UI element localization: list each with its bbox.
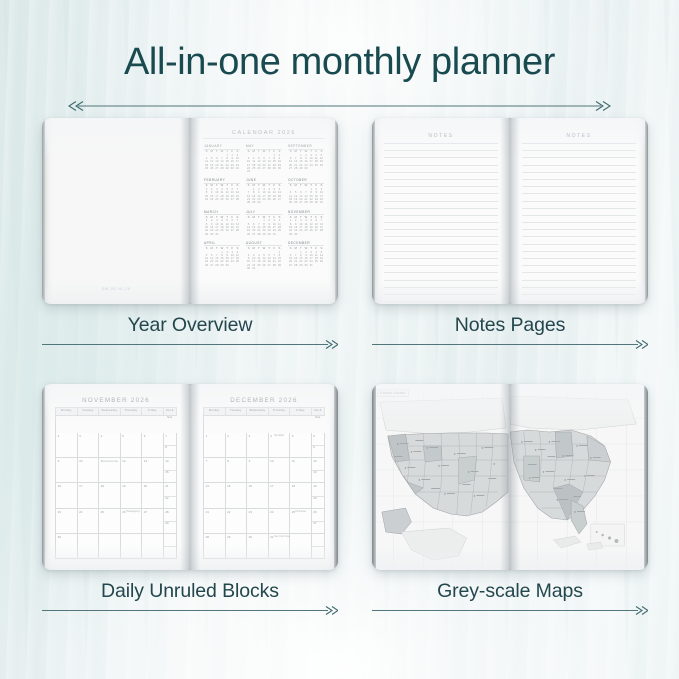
day-holiday-note: Thanksgiving [126, 510, 140, 513]
day-number: 12 [313, 459, 316, 463]
panel-year-overview: DW-192-HL-26 CALENDAR 2026 JANUARYSMTWTF… [42, 118, 338, 355]
mini-day-cell: 28 [235, 198, 240, 201]
spine-edge-right [335, 118, 338, 304]
notes-rule-line [384, 245, 498, 252]
month-day-cell[interactable]: 19 [121, 483, 143, 508]
notes-rule-line [522, 273, 636, 280]
month-day-cell[interactable]: 13 [142, 458, 164, 483]
notes-rule-line [522, 194, 636, 201]
month-day-cell[interactable]: 30 [56, 534, 78, 559]
day-number: 3 [79, 434, 81, 438]
month-day-header: Thursday [121, 408, 143, 416]
caption-divider-year-overview [42, 339, 338, 350]
year-overview-right-page: CALENDAR 2026 JANUARYSMTWTFS123456789101… [190, 118, 338, 304]
year-overview-left-page: DW-192-HL-26 [42, 118, 190, 304]
mini-month-week-row: 25262728293031 [204, 167, 240, 170]
caption-year-overview: Year Overview [42, 314, 338, 337]
month-day-cell[interactable]: 29 [226, 534, 248, 559]
month-day-cell[interactable]: 26Thanksgiving [121, 509, 143, 534]
day-number: 21 [165, 484, 168, 488]
day-number: 5 [313, 434, 315, 438]
notes-rule-line [522, 295, 636, 302]
mini-day-cell [319, 233, 324, 236]
mini-month-name: SEPTEMBER [288, 144, 324, 148]
mini-day-cell [277, 233, 282, 236]
notes-rule-line [522, 151, 636, 158]
weekend-split-line [312, 496, 324, 497]
day-number: 26 [313, 510, 316, 514]
notes-rule-line [384, 209, 498, 216]
month-day-cell[interactable]: 11Veterans Day [99, 458, 121, 483]
mini-month-april: APRILSMTWTFS1234567891011121314151617181… [204, 241, 240, 270]
day-number: 10 [270, 459, 273, 463]
day-number: 8 [227, 459, 229, 463]
notes-rule-line [522, 223, 636, 230]
day-number: 28 [206, 535, 209, 539]
day-number: 5 [122, 434, 124, 438]
notes-rule-line [384, 281, 498, 288]
month-day-cell[interactable] [312, 534, 325, 559]
notes-rule-line [384, 237, 498, 244]
month-day-cell[interactable] [142, 534, 164, 559]
day-number: 22 [227, 510, 230, 514]
spine-edge-left [372, 118, 375, 304]
weekend-split-line [164, 470, 176, 471]
month-day-cell[interactable]: 5 [290, 433, 312, 458]
notes-rule-line [522, 180, 636, 187]
month-day-header: Friday [142, 408, 164, 416]
day-number: 13 [144, 459, 147, 463]
caption-notes-pages: Notes Pages [372, 314, 648, 337]
notes-rule-line [522, 266, 636, 273]
notes-rule-line [384, 223, 498, 230]
monthly-right-page: DECEMBER 2026 MondayTuesdayWednesdayThur… [190, 384, 338, 570]
month-day-cell[interactable]: 24 [78, 509, 100, 534]
map-left-page: United States [372, 384, 510, 570]
month-day-cell[interactable] [121, 534, 143, 559]
month-day-cell[interactable]: 9 [247, 458, 269, 483]
weekend-split-line [312, 445, 324, 446]
month-day-header: Friday [290, 408, 312, 416]
month-day-header: Wednesday [247, 408, 269, 416]
month-day-cell[interactable]: 15 [226, 483, 248, 508]
month-day-cell[interactable]: 31New Year's Eve [269, 534, 291, 559]
notes-rule-line [384, 187, 498, 194]
day-holiday-note: New Year's Eve [274, 535, 291, 538]
month-grid-right: MondayTuesdayWednesdayThursdayFridaySat … [203, 407, 325, 559]
notes-left-page: NOTES [372, 118, 510, 304]
notes-rule-line [384, 194, 498, 201]
mini-month-name: JUNE [246, 178, 282, 182]
notes-rule-line [384, 143, 498, 151]
month-day-cell[interactable]: 24 [269, 509, 291, 534]
month-day-header: Wednesday [99, 408, 121, 416]
weekend-split-line [164, 521, 176, 522]
month-day-cell[interactable]: 22 [226, 509, 248, 534]
notes-rule-line [384, 180, 498, 187]
month-day-header: Monday [204, 408, 226, 416]
mini-month-february: FEBRUARYSMTWTFS1234567891011121314151617… [204, 178, 240, 204]
month-day-cell[interactable] [78, 534, 100, 559]
mini-month-week-row: 22232425262728 [204, 198, 240, 201]
day-number: 30 [58, 535, 61, 539]
month-day-cell[interactable]: 17 [269, 483, 291, 508]
month-day-header: Sat & Sun [312, 408, 325, 416]
month-day-cell[interactable]: 12 [121, 458, 143, 483]
notes-rule-line [522, 143, 636, 151]
mini-month-week-row: 2930 [288, 233, 324, 236]
day-number: 25 [101, 510, 104, 514]
mini-month-week-row: 2728293031 [288, 264, 324, 267]
month-title-right: DECEMBER 2026 [199, 397, 329, 404]
cover-code-text: DW-192-HL-26 [42, 287, 190, 291]
caption-divider-daily-blocks [42, 605, 338, 616]
mini-month-week-row: 2627282930 [204, 264, 240, 267]
month-title-left: NOVEMBER 2026 [51, 397, 181, 404]
notes-header-right: NOTES [519, 133, 639, 139]
month-day-cell[interactable]: 2122 [164, 483, 177, 508]
month-day-cell[interactable]: 11 [290, 458, 312, 483]
mini-month-week-row: 293031 [204, 233, 240, 236]
weekend-split-line [164, 445, 176, 446]
notebook-spread-monthly: NOVEMBER 2026 MondayTuesdayWednesdayThur… [42, 384, 338, 570]
notes-rule-line [522, 173, 636, 180]
mini-month-march: MARCHSMTWTFS1234567891011121314151617181… [204, 210, 240, 236]
day-number: 17 [270, 484, 273, 488]
panel-daily-blocks: NOVEMBER 2026 MondayTuesdayWednesdayThur… [42, 384, 338, 621]
mini-month-name: NOVEMBER [288, 210, 324, 214]
month-day-cell[interactable]: 16 [247, 483, 269, 508]
day-number: 6 [144, 434, 146, 438]
monthly-left-page: NOVEMBER 2026 MondayTuesdayWednesdayThur… [42, 384, 190, 570]
month-day-cell[interactable]: 17 [78, 483, 100, 508]
notes-rule-line [384, 288, 498, 295]
mini-day-cell [277, 201, 282, 204]
notes-rule-line [384, 295, 498, 302]
day-number: 5 [292, 434, 294, 438]
month-day-cell[interactable]: 2 [226, 433, 248, 458]
notes-rule-line [522, 158, 636, 165]
day-number: 18 [101, 484, 104, 488]
mini-day-cell [277, 170, 282, 173]
weekend-split-line [312, 546, 324, 547]
notes-rule-line [522, 202, 636, 209]
day-number: 19 [313, 484, 316, 488]
spine-edge-right [334, 384, 338, 570]
calendar-year-title: CALENDAR 2026 [199, 130, 329, 136]
notes-rule-line [384, 202, 498, 209]
notes-rule-line [522, 252, 636, 259]
weekend-split-line [164, 546, 176, 547]
month-day-cell[interactable]: 1415 [164, 458, 177, 483]
month-day-cell[interactable]: 8 [226, 458, 248, 483]
month-grid-left: MondayTuesdayWednesdayThursdayFridaySat … [55, 407, 177, 559]
notes-rule-line [384, 266, 498, 273]
page-title: All-in-one monthly planner [0, 42, 679, 82]
month-day-cell[interactable]: 3 [78, 433, 100, 458]
month-day-cell[interactable]: 1920 [312, 483, 325, 508]
notes-rule-line [522, 259, 636, 266]
day-number: 7 [206, 459, 208, 463]
mini-month-name: AUGUST [246, 241, 282, 245]
day-number: 16 [58, 484, 61, 488]
mini-month-august: AUGUSTSMTWTFS123456789101112131415161718… [246, 241, 282, 270]
month-day-cell[interactable]: 1213 [312, 458, 325, 483]
month-day-cell[interactable]: 9 [56, 458, 78, 483]
day-number: 10 [79, 459, 82, 463]
mini-month-week-row: 25262728293031 [288, 201, 324, 204]
day-number: 4 [270, 434, 272, 438]
day-number: 30 [249, 535, 252, 539]
month-day-header: Monday [56, 408, 78, 416]
notes-rule-line [522, 245, 636, 252]
mini-month-november: NOVEMBERSMTWTFS1234567891011121314151617… [288, 210, 324, 236]
weekend-split-line [312, 521, 324, 522]
month-day-cell[interactable]: 6 [142, 433, 164, 458]
month-day-cell[interactable]: 7 [204, 458, 226, 483]
day-number: 20 [144, 484, 147, 488]
month-day-cell[interactable]: 56 [312, 433, 325, 458]
mini-month-week-row: 31 [246, 170, 282, 173]
day-number: 7 [165, 434, 167, 438]
day-number: 14 [206, 484, 209, 488]
day-holiday-note: Veterans Day [104, 460, 118, 463]
notes-rule-line [522, 288, 636, 295]
month-day-cell[interactable]: 5 [121, 433, 143, 458]
month-day-cell[interactable] [99, 534, 121, 559]
day-number: 23 [58, 510, 61, 514]
mini-month-september: SEPTEMBERSMTWTFS123456789101112131415161… [288, 144, 324, 173]
notes-rule-line [384, 216, 498, 223]
day-number: 15 [227, 484, 230, 488]
mini-month-week-row: 27282930 [288, 167, 324, 170]
notes-right-page: NOTES [510, 118, 648, 304]
month-day-cell[interactable]: 78 [164, 433, 177, 458]
mini-month-name: APRIL [204, 241, 240, 245]
day-number: 21 [206, 510, 209, 514]
month-day-cell[interactable]: 20 [142, 483, 164, 508]
day-number: 29 [227, 535, 230, 539]
caption-greyscale-maps: Grey-scale Maps [372, 580, 648, 603]
month-day-cell[interactable]: 27 [142, 509, 164, 534]
mini-month-name: MARCH [204, 210, 240, 214]
day-number: 3 [249, 434, 251, 438]
notes-rule-line [384, 151, 498, 158]
month-day-cell[interactable]: 21 [204, 509, 226, 534]
mini-month-may: MAYSMTWTFS123456789101112131415161718192… [246, 144, 282, 173]
month-day-cell[interactable]: 3 [247, 433, 269, 458]
day-number: 9 [249, 459, 251, 463]
mini-day-cell [235, 264, 240, 267]
day-number: 9 [58, 459, 60, 463]
us-map-right-half [510, 384, 648, 570]
weekend-split-line [312, 470, 324, 471]
month-day-cell[interactable]: 14 [204, 483, 226, 508]
mini-months-grid: JANUARYSMTWTFS12345678910111213141516171… [199, 144, 329, 270]
month-day-cell[interactable]: 16 [56, 483, 78, 508]
notes-rule-line [384, 259, 498, 266]
spine-edge-left [372, 384, 376, 570]
mini-day-cell [319, 167, 324, 170]
mini-day-cell [277, 267, 282, 270]
notes-ruled-lines-left [384, 143, 498, 304]
mini-month-name: DECEMBER [288, 241, 324, 245]
notes-rule-line [522, 237, 636, 244]
month-day-cell[interactable]: 25 [99, 509, 121, 534]
month-day-cell[interactable] [164, 534, 177, 559]
caption-divider-notes-pages [372, 339, 648, 350]
day-number: 18 [292, 484, 295, 488]
month-day-cell[interactable]: 4 [99, 433, 121, 458]
month-day-cell[interactable]: 23 [247, 509, 269, 534]
mini-month-june: JUNESMTWTFS12345678910111213141516171819… [246, 178, 282, 204]
notes-rule-line [522, 302, 636, 304]
us-map-left-half [372, 384, 510, 570]
mini-month-week-row: 262728293031 [246, 233, 282, 236]
month-day-cell[interactable]: 2829 [164, 509, 177, 534]
month-day-cell[interactable]: 30 [247, 534, 269, 559]
mini-month-name: OCTOBER [288, 178, 324, 182]
day-number: 12 [122, 459, 125, 463]
month-day-cell[interactable]: 2 [56, 433, 78, 458]
mini-month-name: MAY [246, 144, 282, 148]
day-number: 23 [249, 510, 252, 514]
day-number: 1 [206, 434, 208, 438]
mini-month-july: JULYSMTWTFS12345678910111213141516171819… [246, 210, 282, 236]
day-number: 28 [165, 510, 168, 514]
notes-rule-line [522, 187, 636, 194]
mini-day-cell: 31 [319, 201, 324, 204]
month-day-cell[interactable]: 23 [56, 509, 78, 534]
mini-month-name: JULY [246, 210, 282, 214]
map-right-page [510, 384, 648, 570]
notes-rule-line [384, 302, 498, 304]
day-number: 2 [58, 434, 60, 438]
notebook-spread-notes: NOTES NOTES [372, 118, 648, 304]
notes-header-left: NOTES [381, 133, 501, 139]
mini-month-name: JANUARY [204, 144, 240, 148]
weekend-split-line [164, 496, 176, 497]
day-number: 27 [144, 510, 147, 514]
notes-rule-line [384, 273, 498, 280]
caption-daily-blocks: Daily Unruled Blocks [42, 580, 338, 603]
spine-edge-right [645, 118, 648, 304]
panel-notes-pages: NOTES NOTES Notes Pages [372, 118, 648, 355]
notes-rule-line [522, 166, 636, 173]
mini-month-week-row: 282930 [246, 201, 282, 204]
month-day-cell[interactable]: 28 [204, 534, 226, 559]
notes-rule-line [522, 216, 636, 223]
day-number: 14 [165, 459, 168, 463]
month-day-header: Sat & Sun [164, 408, 177, 416]
month-day-header: Thursday [269, 408, 291, 416]
day-number: 11 [292, 459, 295, 463]
mini-day-cell: 31 [235, 167, 240, 170]
mini-day-cell [319, 264, 324, 267]
month-day-cell[interactable] [290, 534, 312, 559]
mini-month-december: DECEMBERSMTWTFS1234567891011121314151617… [288, 241, 324, 270]
spine-edge-left [42, 118, 45, 304]
notes-rule-line [522, 281, 636, 288]
month-day-header: Tuesday [78, 408, 100, 416]
month-day-cell[interactable]: 2627 [312, 509, 325, 534]
notes-rule-line [384, 166, 498, 173]
notes-rule-line [522, 209, 636, 216]
spine-edge-left [42, 384, 45, 570]
panel-greyscale-maps: United States [372, 384, 648, 621]
spine-edge-right [644, 384, 648, 570]
day-number: 17 [79, 484, 82, 488]
day-number: 24 [270, 510, 273, 514]
month-day-cell[interactable]: 10 [78, 458, 100, 483]
day-holiday-note: Christmas [295, 510, 306, 513]
day-number: 16 [249, 484, 252, 488]
mini-month-october: OCTOBERSMTWTFS12345678910111213141516171… [288, 178, 324, 204]
day-number: 24 [79, 510, 82, 514]
day-holiday-note: Hanukkah [274, 434, 285, 437]
mini-month-name: FEBRUARY [204, 178, 240, 182]
day-number: 4 [101, 434, 103, 438]
mini-day-cell [235, 233, 240, 236]
month-day-cell[interactable]: 25Christmas [290, 509, 312, 534]
notes-rule-line [384, 230, 498, 237]
month-day-header: Tuesday [226, 408, 248, 416]
mini-month-week-row: 3031 [246, 267, 282, 270]
day-number: 19 [122, 484, 125, 488]
month-day-cell[interactable]: 10 [269, 458, 291, 483]
notes-rule-line [384, 158, 498, 165]
notes-rule-line [522, 230, 636, 237]
month-day-cell[interactable]: 18 [99, 483, 121, 508]
notes-ruled-lines-right [522, 143, 636, 304]
calendar-title-rule [203, 138, 325, 139]
caption-divider-greyscale-maps [372, 605, 648, 616]
notebook-spread-year-overview: DW-192-HL-26 CALENDAR 2026 JANUARYSMTWTF… [42, 118, 338, 304]
month-day-cell[interactable]: 4Hanukkah [269, 433, 291, 458]
mini-month-january: JANUARYSMTWTFS12345678910111213141516171… [204, 144, 240, 173]
day-number: 2 [227, 434, 229, 438]
month-day-cell[interactable]: 18 [290, 483, 312, 508]
title-divider-rule [64, 100, 615, 112]
map-title-label: United States [377, 389, 409, 397]
notes-rule-line [384, 173, 498, 180]
month-day-cell[interactable]: 1 [204, 433, 226, 458]
notes-rule-line [384, 252, 498, 259]
notebook-spread-maps: United States [372, 384, 648, 570]
